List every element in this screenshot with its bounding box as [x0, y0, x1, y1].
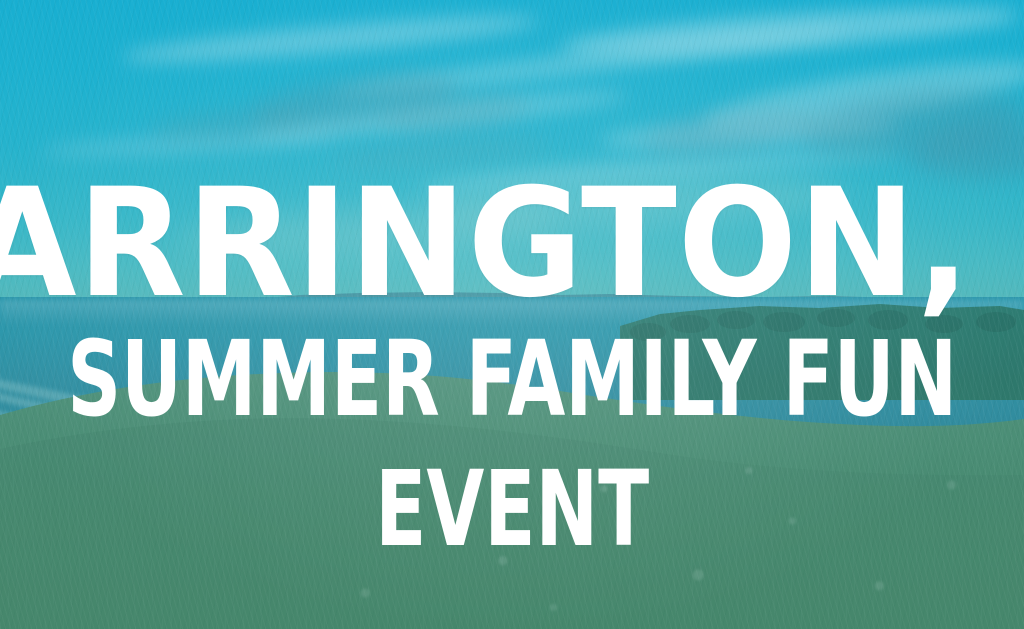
- banner-subline-secondary: EVENT: [375, 460, 649, 560]
- banner-text-block: BARRINGTON, IL SUMMER FAMILY FUN EVENT: [0, 0, 1024, 629]
- event-banner: BARRINGTON, IL SUMMER FAMILY FUN EVENT: [0, 0, 1024, 629]
- banner-headline: BARRINGTON, IL: [0, 172, 1024, 316]
- banner-subline-primary: SUMMER FAMILY FUN: [67, 330, 957, 430]
